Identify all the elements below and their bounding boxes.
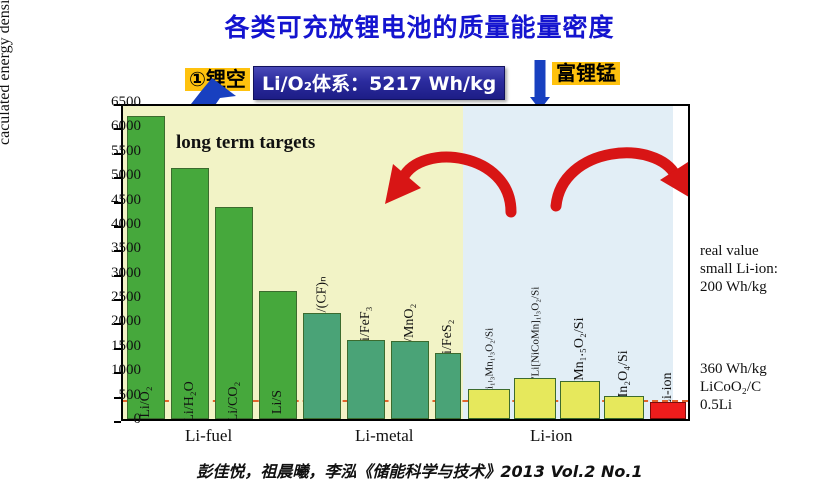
y-tick-mark — [114, 226, 121, 228]
y-tick-label: 2000 — [81, 313, 141, 330]
group-label-li-metal: Li-metal — [355, 426, 414, 446]
y-tick-mark — [114, 299, 121, 301]
bar-li-metal[interactable] — [391, 341, 429, 419]
page-title: 各类可充放锂电池的质量能量密度 — [0, 8, 839, 44]
bar-li-fuel[interactable]: Li/CO₂ — [215, 207, 253, 419]
y-tick-mark — [114, 250, 121, 252]
y-tick-label: 0 — [81, 411, 141, 428]
source-caption: 彭佳悦，祖晨曦，李泓《储能科学与技术》2013 Vol.2 No.1 — [0, 458, 839, 482]
y-tick-mark — [114, 128, 121, 130]
note-real-value-line3: 200 Wh/kg — [700, 278, 767, 296]
banner-li-o2-energy: Li/O₂体系：5217 Wh/kg — [253, 66, 505, 100]
y-tick-mark — [114, 372, 121, 374]
bar-li-metal[interactable] — [303, 313, 341, 419]
y-tick-mark — [114, 177, 121, 179]
y-tick-mark — [114, 275, 121, 277]
arrow-li-rich-manganese — [524, 60, 556, 110]
note-ref-line1: 360 Wh/kg — [700, 360, 767, 378]
y-axis-title: caculated energy density/Wh·kg⁻¹ — [0, 0, 14, 150]
red-curved-arrow-right — [548, 132, 690, 212]
y-tick-label: 2500 — [81, 289, 141, 306]
y-tick-label: 3500 — [81, 240, 141, 257]
chart-plot-area: long term targets Li/O₂Li/H₂OLi/CO₂Li/SL… — [121, 104, 690, 421]
note-real-value-line2: small Li-ion: — [700, 260, 778, 278]
y-tick-mark — [114, 153, 121, 155]
y-tick-mark — [114, 348, 121, 350]
bar-li-ion[interactable] — [650, 402, 686, 419]
y-tick-mark — [114, 323, 121, 325]
note-ref-line2: LiCoO₂/C — [700, 378, 761, 396]
y-tick-label: 4000 — [81, 216, 141, 233]
red-curved-arrow-left — [381, 134, 521, 218]
y-tick-label: 1000 — [81, 362, 141, 379]
callout-li-rich-manganese: 富锂锰 — [552, 62, 620, 85]
group-label-li-fuel: Li-fuel — [185, 426, 232, 446]
bar-li-metal[interactable] — [435, 353, 461, 419]
bar-li-ion[interactable] — [514, 378, 556, 419]
bar-li-fuel[interactable]: Li/H₂O — [171, 168, 209, 419]
y-tick-label: 1500 — [81, 338, 141, 355]
long-term-targets-label: long term targets — [176, 132, 315, 154]
y-tick-mark — [114, 202, 121, 204]
y-tick-label: 6500 — [81, 94, 141, 111]
y-tick-mark — [114, 104, 121, 106]
y-tick-label: 6000 — [81, 118, 141, 135]
y-tick-mark — [114, 397, 121, 399]
y-tick-label: 3000 — [81, 265, 141, 282]
bar-label: Li/S — [270, 390, 286, 414]
bar-label: Li/H₂O — [182, 381, 198, 421]
bar-li-ion[interactable] — [468, 389, 510, 419]
bar-li-fuel[interactable]: Li/S — [259, 291, 297, 419]
group-label-li-ion: Li-ion — [530, 426, 573, 446]
bar-li-metal[interactable] — [347, 340, 385, 419]
note-real-value-line1: real value — [700, 242, 759, 260]
bar-li-ion[interactable] — [604, 396, 644, 419]
note-ref-line3: 0.5Li — [700, 396, 732, 414]
bar-li-ion[interactable] — [560, 381, 600, 419]
y-tick-label: 4500 — [81, 192, 141, 209]
y-tick-mark — [114, 421, 121, 423]
y-tick-label: 500 — [81, 387, 141, 404]
bar-label: Li/CO₂ — [226, 382, 242, 421]
y-tick-label: 5500 — [81, 143, 141, 160]
y-tick-label: 5000 — [81, 167, 141, 184]
